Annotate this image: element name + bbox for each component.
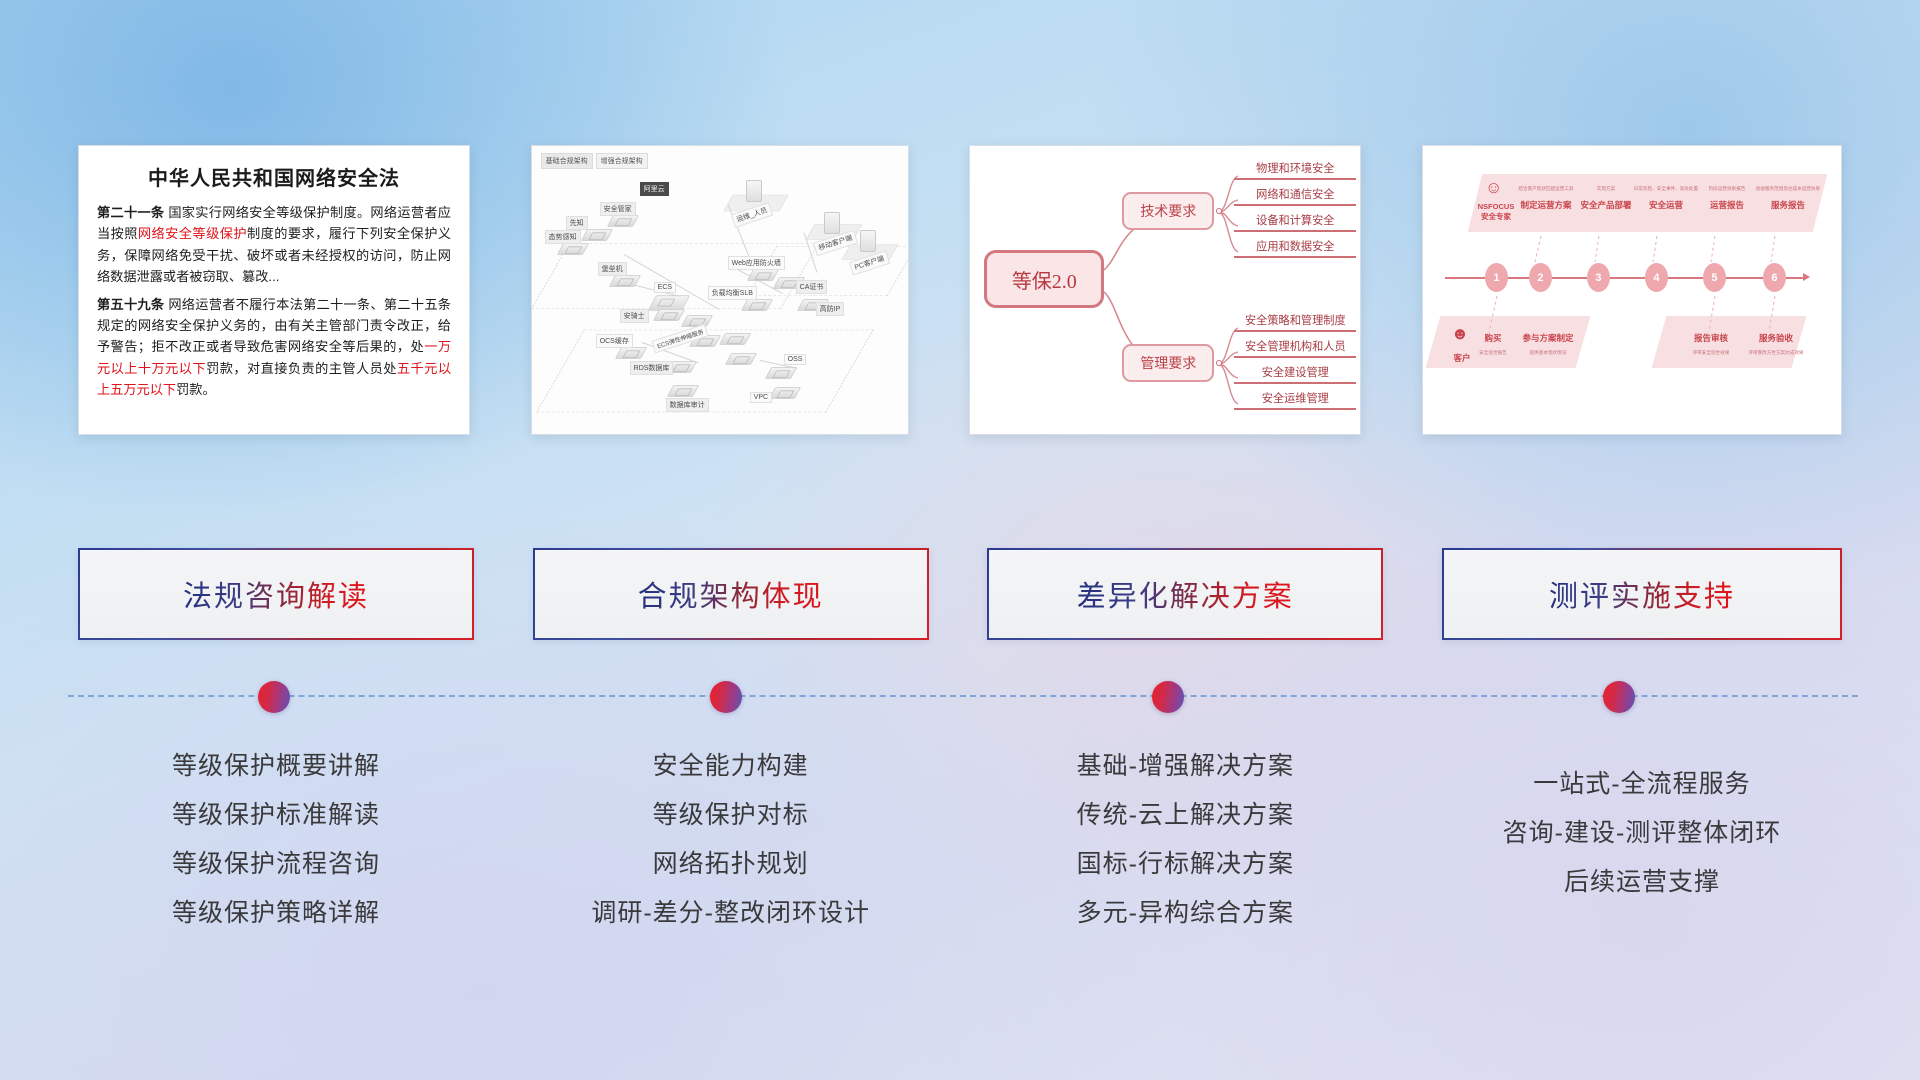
list-item: 国标-行标解决方案 <box>1077 840 1294 889</box>
node-label-vpc: VPC <box>750 392 772 403</box>
list-item: 一站式-全流程服务 <box>1533 760 1750 809</box>
step-6-title: 服务报告 <box>1753 199 1823 211</box>
customer-step-acceptance-sub: 评审整改方世方案达成效果 <box>1743 350 1809 356</box>
article-59-label: 第五十九条 <box>97 297 164 312</box>
node-label-bastion-host: 堡垒机 <box>598 262 627 276</box>
title-text-2: 合规架构体现 <box>638 573 824 615</box>
node-label-xianzhi: 先知 <box>566 216 588 230</box>
step-3-top: 实现方案 安全产品部署 <box>1575 186 1637 211</box>
customer-step-purchase: 购买 安全巡世报告 <box>1469 332 1517 356</box>
list-item: 安全能力构建 <box>653 742 809 791</box>
title-box-differentiated-solution[interactable]: 差异化解决方案 <box>987 548 1383 640</box>
card-nsfocus-service-timeline[interactable]: ☺ NSFOCUS 安全专家 结合客户现状匹配运营工具 制定运营方案 实现方案 … <box>1422 145 1842 435</box>
article-59-post: 罚款。 <box>176 382 216 397</box>
customer-person-icon: ☻ <box>1451 324 1469 344</box>
timeline-node-2[interactable]: 2 <box>1529 263 1552 292</box>
timeline-node-6[interactable]: 6 <box>1763 263 1786 292</box>
node-label-anqishi: 安骑士 <box>620 309 649 323</box>
list-item: 传统-云上解决方案 <box>1077 791 1294 840</box>
customer-step-acceptance: 服务验收 评审整改方世方案达成效果 <box>1743 332 1809 356</box>
step-4-top: 日常巡检、安全事件、高危处置 安全运营 <box>1633 186 1699 211</box>
mindmap-leaf-tech-2: 网络和通信安全 <box>1234 186 1356 206</box>
mindmap-branch-management[interactable]: 管理要求 <box>1122 344 1214 382</box>
step-5-sub: 阶段运营效果报告 <box>1695 186 1759 192</box>
card-cybersecurity-law[interactable]: 中华人民共和国网络安全法 第二十一条 国家实行网络安全等级保护制度。网络运营者应… <box>78 145 470 435</box>
step-2-sub: 结合客户现状匹配运营工具 <box>1515 186 1577 192</box>
node-icon-anqishi <box>652 309 684 321</box>
list-item: 基础-增强解决方案 <box>1077 742 1294 791</box>
card-dengbao-mindmap[interactable]: 等保2.0 技术要求 物理和环境安全 网络和通信安全 设备和计算安全 应用和数据… <box>969 145 1361 435</box>
node-label-rds: RDS数据库 <box>630 361 674 375</box>
customer-step-purchase-sub: 安全巡世报告 <box>1469 350 1517 356</box>
node-label-waf: Web应用防火墙 <box>728 256 785 270</box>
list-item: 等级保护策略详解 <box>172 889 380 938</box>
tab-enhanced-architecture[interactable]: 增强合规架构 <box>596 153 648 169</box>
node-icon-slb <box>740 299 772 311</box>
feature-list-regulation-consulting: 等级保护概要讲解 等级保护标准解读 等级保护流程咨询 等级保护策略详解 <box>78 742 474 938</box>
node-label-situation-awareness: 态势感知 <box>545 230 581 244</box>
tab-basic-architecture[interactable]: 基础合规架构 <box>541 153 593 169</box>
timeline-node-4[interactable]: 4 <box>1645 263 1668 292</box>
list-item: 等级保护对标 <box>653 791 809 840</box>
mindmap-root[interactable]: 等保2.0 <box>984 250 1104 308</box>
node-icon-ops-person <box>746 180 762 202</box>
card-compliance-architecture[interactable]: 基础合规架构 增强合规架构 阿里云 安全管家 先知 态势感知 堡垒机 <box>531 145 909 435</box>
node-label-aliyun: 阿里云 <box>640 182 669 196</box>
node-label-db-audit: 数据库审计 <box>666 398 709 412</box>
mindmap-branch-technical[interactable]: 技术要求 <box>1122 192 1214 230</box>
progress-dot-2[interactable] <box>710 681 742 713</box>
mindmap-leaf-mgmt-2: 安全管理机构和人员 <box>1234 338 1356 358</box>
list-item: 咨询-建设-测评整体闭环 <box>1503 809 1782 858</box>
mindmap-leaf-tech-4: 应用和数据安全 <box>1234 238 1356 258</box>
node-icon-pc-client <box>860 230 876 252</box>
mindmap-leaf-mgmt-1: 安全策略和管理制度 <box>1234 312 1356 332</box>
step-5-title: 运营报告 <box>1695 199 1759 211</box>
customer-step-participate-title: 参与方案制定 <box>1513 332 1583 344</box>
mindmap-leaf-tech-3: 设备和计算安全 <box>1234 212 1356 232</box>
title-text-1: 法规咨询解读 <box>183 573 369 615</box>
timeline-node-1[interactable]: 1 <box>1485 263 1508 292</box>
architecture-diagram: 基础合规架构 增强合规架构 阿里云 安全管家 先知 态势感知 堡垒机 <box>532 146 908 434</box>
mindmap: 等保2.0 技术要求 物理和环境安全 网络和通信安全 设备和计算安全 应用和数据… <box>970 146 1360 434</box>
mindmap-leaf-mgmt-3: 安全建设管理 <box>1234 364 1356 384</box>
step-2-top: 结合客户现状匹配运营工具 制定运营方案 <box>1515 186 1577 211</box>
progress-dot-4[interactable] <box>1603 681 1635 713</box>
list-item: 调研-差分-整改闭环设计 <box>591 889 870 938</box>
feature-list-differentiated-solution: 基础-增强解决方案 传统-云上解决方案 国标-行标解决方案 多元-异构综合方案 <box>987 742 1383 938</box>
article-59-mid: 罚款，对直接负责的主管人员处 <box>206 361 397 376</box>
law-document: 中华人民共和国网络安全法 第二十一条 国家实行网络安全等级保护制度。网络运营者应… <box>79 146 469 414</box>
step-6-top: 验收服务范围及达成本运营效果 服务报告 <box>1753 186 1823 211</box>
timeline-arrow-icon <box>1803 273 1810 281</box>
article-21-highlight: 网络安全等级保护 <box>138 226 247 241</box>
progress-dot-3[interactable] <box>1152 681 1184 713</box>
step-5-top: 阶段运营效果报告 运营报告 <box>1695 186 1759 211</box>
title-text-3: 差异化解决方案 <box>1077 573 1294 615</box>
progress-dot-1[interactable] <box>258 681 290 713</box>
law-title: 中华人民共和国网络安全法 <box>97 162 451 191</box>
feature-list-compliance-architecture: 安全能力构建 等级保护对标 网络拓扑规划 调研-差分-整改闭环设计 <box>533 742 929 938</box>
title-box-compliance-architecture[interactable]: 合规架构体现 <box>533 548 929 640</box>
architecture-tabs[interactable]: 基础合规架构 增强合规架构 <box>541 153 648 169</box>
node-label-ocs-cache: OCS缓存 <box>596 334 633 348</box>
step-3-sub: 实现方案 <box>1575 186 1637 192</box>
step-6-sub: 验收服务范围及达成本运营效果 <box>1753 186 1823 192</box>
step-2-title: 制定运营方案 <box>1515 199 1577 211</box>
list-item: 等级保护标准解读 <box>172 791 380 840</box>
customer-step-report-review-sub: 评审安全巡世效果 <box>1681 350 1741 356</box>
node-label-slb: 负载均衡SLB <box>708 286 757 300</box>
feature-list-assessment-support: 一站式-全流程服务 咨询-建设-测评整体闭环 后续运营支撑 <box>1442 742 1842 938</box>
step-3-title: 安全产品部署 <box>1575 199 1637 211</box>
section-titles-row: 法规咨询解读 合规架构体现 差异化解决方案 测评实施支持 <box>0 548 1920 640</box>
nsfocus-timeline: ☺ NSFOCUS 安全专家 结合客户现状匹配运营工具 制定运营方案 实现方案 … <box>1423 146 1841 434</box>
media-cards-row: 中华人民共和国网络安全法 第二十一条 国家实行网络安全等级保护制度。网络运营者应… <box>0 145 1920 440</box>
node-label-ecs: ECS <box>654 282 676 293</box>
list-item: 多元-异构综合方案 <box>1077 889 1294 938</box>
feature-lists-row: 等级保护概要讲解 等级保护标准解读 等级保护流程咨询 等级保护策略详解 安全能力… <box>0 742 1920 938</box>
node-label-ca-cert: CA证书 <box>796 280 828 294</box>
article-21-label: 第二十一条 <box>97 205 164 220</box>
node-label-security-butler: 安全管家 <box>600 202 636 216</box>
customer-step-report-review-title: 报告审核 <box>1681 332 1741 344</box>
list-item: 等级保护概要讲解 <box>172 742 380 791</box>
customer-step-participate: 参与方案制定 提供基本现状情况 <box>1513 332 1583 356</box>
node-label-anti-ddos-ip: 高防IP <box>816 302 845 316</box>
law-article-59: 第五十九条 网络运营者不履行本法第二十一条、第二十五条规定的网络安全保护义务的，… <box>97 294 451 401</box>
mindmap-leaf-mgmt-4: 安全运维管理 <box>1234 390 1356 410</box>
node-icon-security-butler <box>606 215 638 227</box>
customer-step-participate-sub: 提供基本现状情况 <box>1513 350 1583 356</box>
list-item: 网络拓扑规划 <box>653 840 809 889</box>
step-4-sub: 日常巡检、安全事件、高危处置 <box>1633 186 1699 192</box>
node-label-oss: OSS <box>784 354 807 365</box>
title-text-4: 测评实施支持 <box>1549 573 1735 615</box>
progress-dashed-line <box>68 695 1858 697</box>
list-item: 后续运营支撑 <box>1564 858 1720 907</box>
timeline-node-3[interactable]: 3 <box>1587 263 1610 292</box>
law-article-21: 第二十一条 国家实行网络安全等级保护制度。网络运营者应当按照网络安全等级保护制度… <box>97 202 451 288</box>
step-4-title: 安全运营 <box>1633 199 1699 211</box>
customer-step-purchase-title: 购买 <box>1469 332 1517 344</box>
customer-step-acceptance-title: 服务验收 <box>1743 332 1809 344</box>
node-icon-xianzhi <box>580 229 612 241</box>
expert-person-icon: ☺ <box>1485 178 1502 198</box>
mindmap-leaf-tech-1: 物理和环境安全 <box>1234 160 1356 180</box>
list-item: 等级保护流程咨询 <box>172 840 380 889</box>
title-box-regulation-consulting[interactable]: 法规咨询解读 <box>78 548 474 640</box>
timeline-node-5[interactable]: 5 <box>1703 263 1726 292</box>
node-icon-mobile-client <box>824 212 840 234</box>
title-box-assessment-support[interactable]: 测评实施支持 <box>1442 548 1842 640</box>
customer-step-report-review: 报告审核 评审安全巡世效果 <box>1681 332 1741 356</box>
